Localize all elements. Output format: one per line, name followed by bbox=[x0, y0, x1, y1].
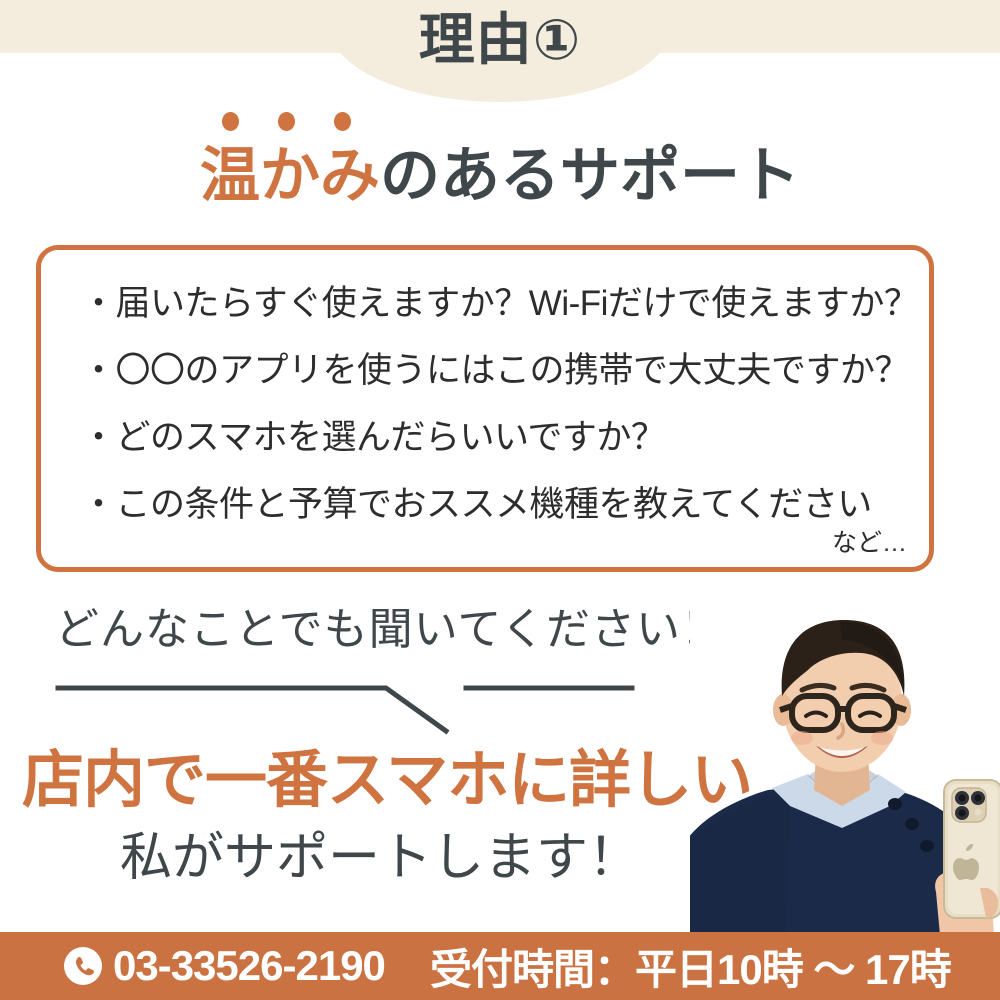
claim-subheadline: 私がサポートします！ bbox=[120, 825, 640, 891]
footer-business-hours: 受付時間：平日10時 〜 17時 bbox=[430, 932, 951, 1000]
footer-contact-bar: 03-33526-2190 受付時間：平日10時 〜 17時 bbox=[0, 932, 1000, 1000]
footer-phone-number[interactable]: 03-33526-2190 bbox=[113, 932, 385, 1000]
headline: 温かみのあるサポート bbox=[0, 140, 1000, 212]
dot-3 bbox=[334, 112, 351, 131]
list-item: ・どのスマホを選んだらいいですか？ bbox=[81, 404, 913, 471]
callout-subline: どんなことでも聞いてください！ bbox=[55, 602, 726, 658]
etc-label: など… bbox=[832, 523, 907, 559]
list-item: ・届いたらすぐ使えますか？Wi-Fiだけで使えますか？ bbox=[81, 270, 913, 337]
list-item: ・〇〇のアプリを使うにはこの携帯で大丈夫ですか？ bbox=[81, 337, 913, 404]
speech-bubble-rule-icon bbox=[50, 670, 650, 740]
dot-2 bbox=[278, 112, 295, 131]
dot-1 bbox=[222, 112, 239, 131]
claim-headline: 店内で一番スマホに詳しい bbox=[22, 744, 752, 818]
headline-accent: 温かみ bbox=[200, 142, 380, 209]
question-box: ・届いたらすぐ使えますか？Wi-Fiだけで使えますか？ ・〇〇のアプリを使うには… bbox=[36, 245, 934, 572]
headline-dots bbox=[222, 112, 382, 134]
poster-root: 理由① 温かみのあるサポート ・届いたらすぐ使えますか？Wi-Fiだけで使えます… bbox=[0, 0, 1000, 1000]
page-title: 理由① bbox=[0, 8, 1000, 72]
headline-rest: のあるサポート bbox=[380, 142, 800, 209]
question-list: ・届いたらすぐ使えますか？Wi-Fiだけで使えますか？ ・〇〇のアプリを使うには… bbox=[81, 270, 913, 538]
list-item: ・この条件と予算でおススメ機種を教えてください bbox=[81, 471, 913, 538]
phone-icon bbox=[63, 946, 103, 986]
